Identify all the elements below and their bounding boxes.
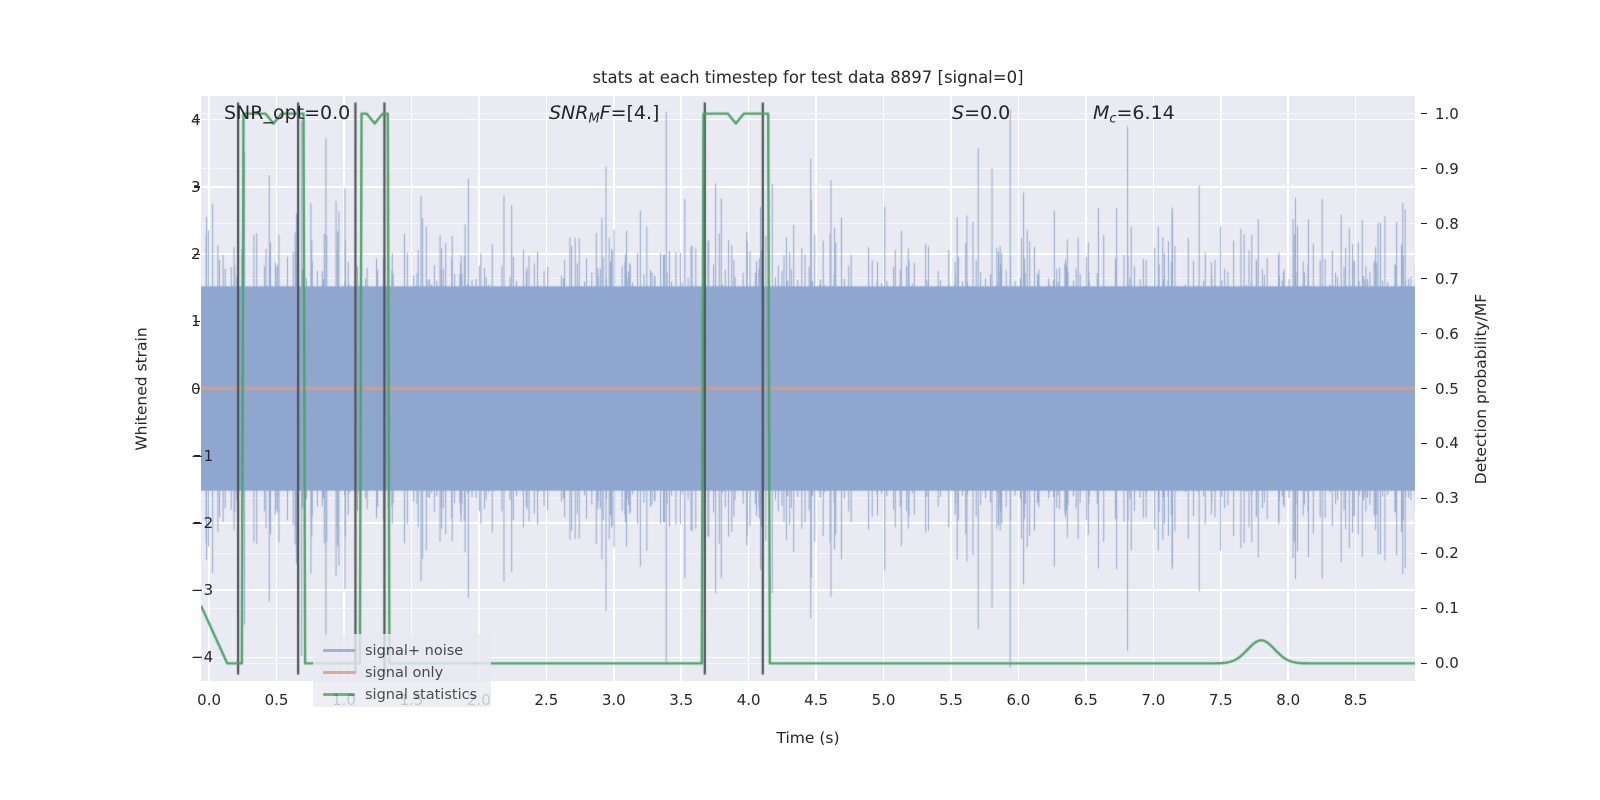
y-axis-right-tick-label: 0.3 <box>1435 489 1459 507</box>
x-axis-tick-label: 7.5 <box>1209 691 1233 709</box>
x-axis-tick-label: 4.0 <box>737 691 761 709</box>
y-axis-right-tick-label: 0.8 <box>1435 215 1459 233</box>
plot-legend: signal+ noisesignal onlysignal statistic… <box>313 634 491 707</box>
y-axis-left-tickmark <box>194 522 200 523</box>
annotation-snr-opt: SNR_opt=0.0 <box>224 102 350 124</box>
series-canvas <box>201 96 1415 681</box>
y-axis-right-tick-label: 1.0 <box>1435 105 1459 123</box>
y-axis-right-tickmark <box>1421 388 1427 389</box>
y-axis-right-tick-label: 0.0 <box>1435 654 1459 672</box>
y-axis-left-tickmark <box>194 186 200 187</box>
legend-swatch-2 <box>323 693 355 695</box>
y-axis-right-tick-label: 0.6 <box>1435 325 1459 343</box>
y-axis-right-tick-label: 0.7 <box>1435 270 1459 288</box>
x-axis-tick-label: 3.0 <box>602 691 626 709</box>
y-axis-right-tick-label: 0.2 <box>1435 544 1459 562</box>
y-axis-left-label-text: Whitened strain <box>133 327 151 450</box>
y-axis-right-tick-label: 0.1 <box>1435 599 1459 617</box>
y-axis-right-tickmark <box>1421 333 1427 334</box>
y-axis-left-tickmark <box>194 455 200 456</box>
x-axis-tick-label: 0.5 <box>265 691 289 709</box>
plot-title: stats at each timestep for test data 889… <box>201 68 1415 87</box>
annotation-mchirp: Mc=6.14 <box>1093 102 1175 127</box>
annotation-snr-mf: SNRMF=[4.] <box>549 102 659 127</box>
x-axis-tick-label: 2.5 <box>534 691 558 709</box>
y-axis-right-tick-label: 0.5 <box>1435 380 1459 398</box>
annotation-s-stat: S=0.0 <box>952 102 1010 124</box>
legend-label: signal statistics <box>365 687 477 703</box>
x-axis-tick-label: 3.5 <box>669 691 693 709</box>
legend-item: signal statistics <box>313 684 491 705</box>
y-axis-right-tickmark <box>1421 608 1427 609</box>
y-axis-left-tickmark <box>194 388 200 389</box>
x-axis-tick-label: 7.0 <box>1141 691 1165 709</box>
y-axis-right-tickmark <box>1421 278 1427 279</box>
x-axis-tick-label: 6.0 <box>1006 691 1030 709</box>
x-axis-label: Time (s) <box>201 729 1415 747</box>
x-axis-tick-label: 6.5 <box>1074 691 1098 709</box>
x-axis-tick-label: 8.0 <box>1276 691 1300 709</box>
legend-swatch-1 <box>323 671 355 673</box>
legend-label: signal only <box>365 665 443 681</box>
y-axis-right-tickmark <box>1421 168 1427 169</box>
y-axis-right-label-text: Detection probability/MF <box>1472 293 1490 483</box>
y-axis-left-tickmark <box>194 254 200 255</box>
y-axis-right-tick-label: 0.9 <box>1435 160 1459 178</box>
legend-item: signal+ noise <box>313 640 491 661</box>
y-axis-left-label: Whitened strain <box>131 96 153 681</box>
y-axis-right-tickmark <box>1421 113 1427 114</box>
y-axis-right-tickmark <box>1421 663 1427 664</box>
y-axis-right-tickmark <box>1421 443 1427 444</box>
y-axis-left-tickmark <box>194 590 200 591</box>
x-axis-tick-label: 0.0 <box>197 691 221 709</box>
legend-label: signal+ noise <box>365 643 463 659</box>
x-axis-tick-label: 8.5 <box>1344 691 1368 709</box>
y-axis-right-tickmark <box>1421 223 1427 224</box>
x-axis-tick-label: 4.5 <box>804 691 828 709</box>
y-axis-left-tickmark <box>194 119 200 120</box>
x-axis-tick-label: 5.5 <box>939 691 963 709</box>
legend-swatch-0 <box>323 649 355 651</box>
y-axis-left-tickmark <box>194 321 200 322</box>
plot-axes: SNR_opt=0.0SNRMF=[4.]S=0.0Mc=6.14 <box>201 96 1415 681</box>
y-axis-right-label: Detection probability/MF <box>1470 96 1492 681</box>
legend-item: signal only <box>313 662 491 683</box>
y-axis-right-tickmark <box>1421 553 1427 554</box>
y-axis-left-tickmark <box>194 657 200 658</box>
figure-root: stats at each timestep for test data 889… <box>0 0 1600 800</box>
y-axis-right-tickmark <box>1421 498 1427 499</box>
y-axis-right-tick-label: 0.4 <box>1435 434 1459 452</box>
x-axis-tick-label: 5.0 <box>872 691 896 709</box>
